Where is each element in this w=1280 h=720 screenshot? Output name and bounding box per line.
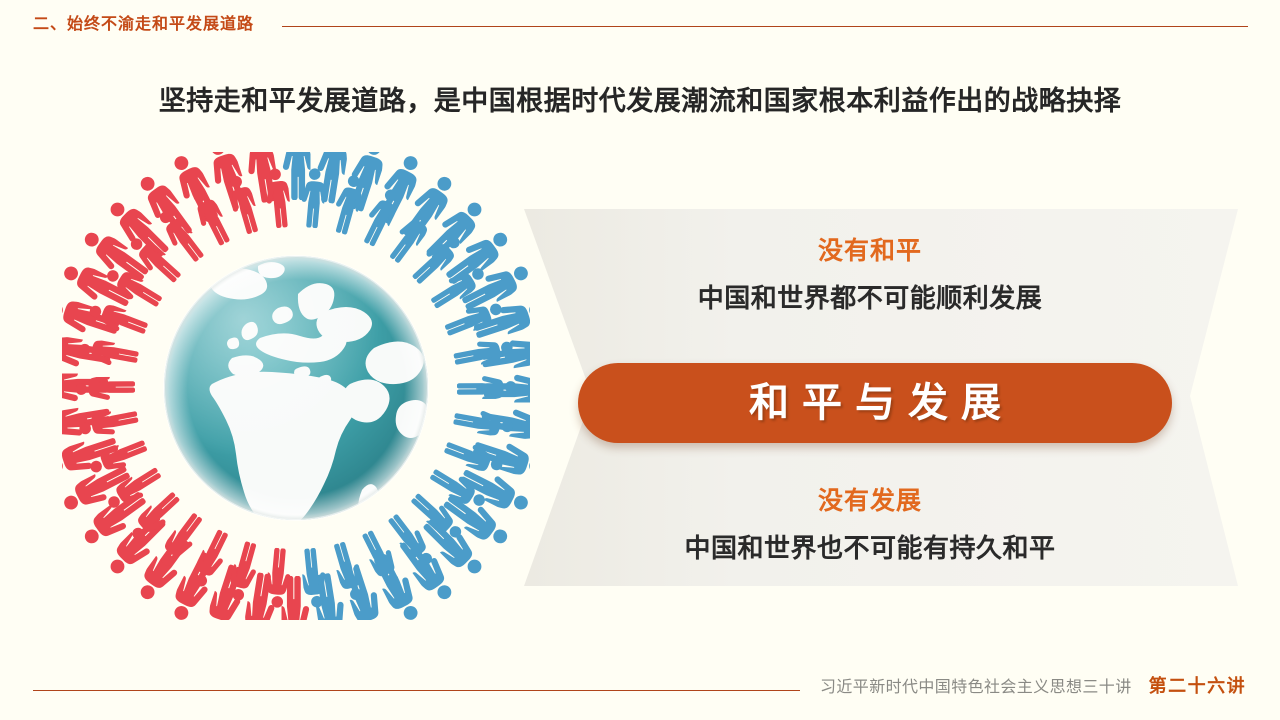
center-pill[interactable]: 和平与发展	[578, 363, 1172, 443]
footer-meta: 习近平新时代中国特色社会主义思想三十讲 第二十六讲	[820, 675, 1260, 699]
panel-block-bottom: 没有发展 中国和世界也不可能有持久和平	[500, 484, 1240, 566]
page-title: 坚持走和平发展道路，是中国根据时代发展潮流和国家根本利益作出的战略抉择	[0, 82, 1280, 120]
section-header-rule	[282, 26, 1248, 27]
slide-root: 二、始终不渝走和平发展道路 坚持走和平发展道路，是中国根据时代发展潮流和国家根本…	[0, 0, 1280, 720]
block-heading-no-development: 没有发展	[500, 484, 1240, 518]
footer-course-title: 习近平新时代中国特色社会主义思想三十讲	[820, 677, 1132, 699]
person-icon	[75, 374, 135, 400]
footer-rule	[33, 690, 800, 691]
person-icon	[77, 334, 140, 370]
block-body-no-development: 中国和世界也不可能有持久和平	[500, 530, 1240, 566]
block-heading-no-peace: 没有和平	[500, 234, 1240, 268]
concept-panel: 没有和平 中国和世界都不可能顺利发展 和平与发展 没有发展 中国和世界也不可能有…	[500, 196, 1240, 596]
block-body-no-peace: 中国和世界都不可能顺利发展	[500, 280, 1240, 316]
section-header: 二、始终不渝走和平发展道路	[33, 12, 1248, 38]
panel-block-top: 没有和平 中国和世界都不可能顺利发展	[500, 234, 1240, 316]
globe-illustration	[62, 152, 530, 620]
section-header-label: 二、始终不渝走和平发展道路	[33, 12, 254, 38]
footer-lecture-number: 第二十六讲	[1149, 675, 1247, 697]
center-pill-label: 和平与发展	[736, 379, 1014, 427]
